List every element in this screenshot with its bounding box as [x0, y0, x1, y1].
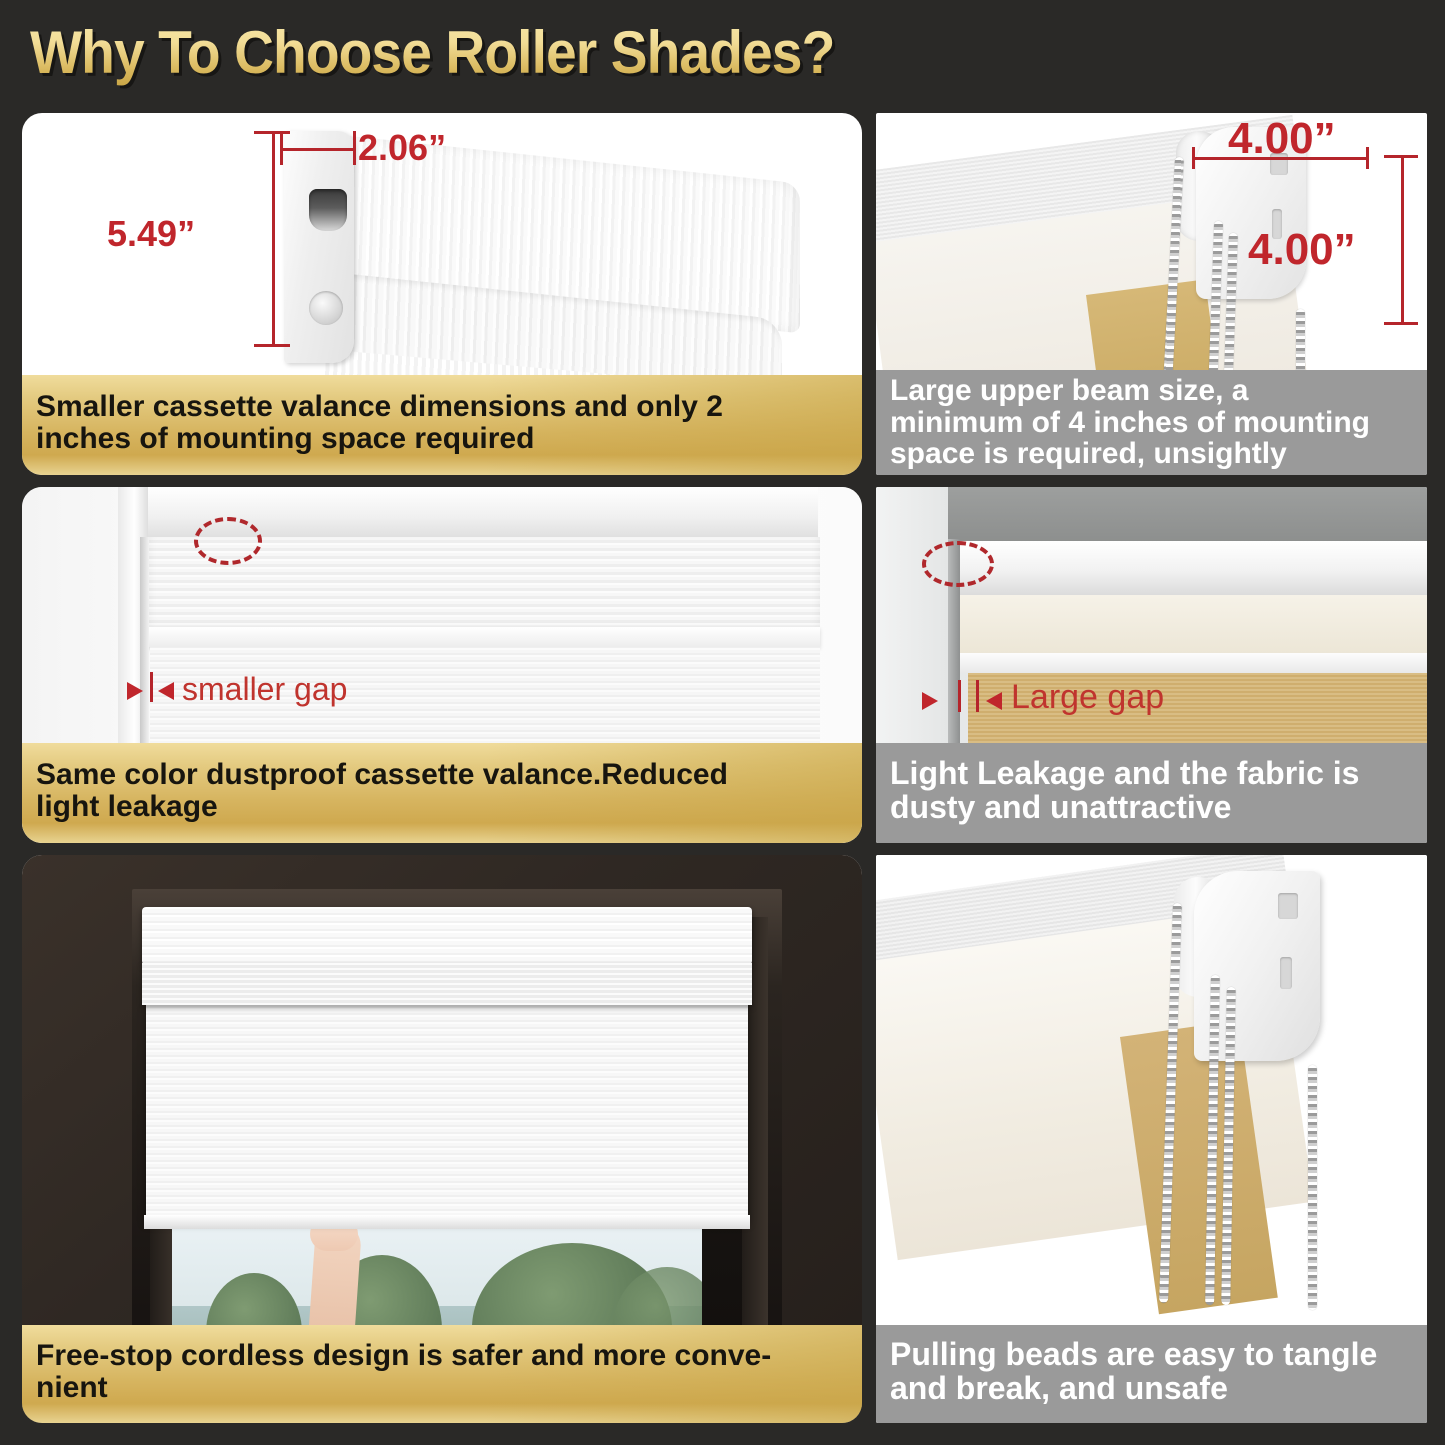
panel-3-caption: Same color dustproof cassette valance.Re…	[22, 743, 862, 843]
dim-height-tick-top	[254, 131, 290, 134]
dim-height-tick-top-2	[1384, 155, 1418, 158]
panel-4-caption-line-2: dusty and unattractive	[890, 791, 1359, 825]
panel-5-caption: Free-stop cordless design is safer and m…	[22, 1325, 862, 1423]
dim-height-tick-bottom-2	[1384, 322, 1418, 325]
panel-4-caption-line-1: Light Leakage and the fabric is	[890, 757, 1359, 791]
valance-lip	[148, 627, 820, 647]
valance-end-cap	[284, 131, 354, 363]
dimension-label-width-2: 4.00”	[1228, 114, 1336, 164]
bead-chain-4	[1308, 1065, 1317, 1310]
dimension-label-height: 5.49”	[107, 213, 195, 255]
gap-arrow-right	[158, 682, 174, 700]
window-recess-dark	[946, 487, 1427, 545]
gap-marker-line	[150, 672, 153, 702]
gap-highlight-circle-2	[922, 541, 994, 587]
panel-2-caption: Large upper beam size, a minimum of 4 in…	[876, 370, 1427, 475]
panel-2-caption-line-2: minimum of 4 inches of mounting	[890, 407, 1370, 439]
dim-width-tick-right-2	[1366, 147, 1369, 169]
panel-large-upper-beam: 4.00” 4.00” Large upper beam size, a min…	[876, 113, 1427, 475]
gap-arrow-left	[127, 682, 143, 700]
roller-shade-fabric	[146, 1005, 748, 1220]
wall-left	[876, 487, 948, 787]
panel-2-caption-line-1: Large upper beam size, a	[890, 375, 1370, 407]
dim-height-line	[272, 131, 275, 347]
panel-5-caption-line-1: Free-stop cordless design is safer and m…	[36, 1340, 771, 1372]
gap-marker-line-a	[958, 680, 961, 712]
shade-hem-bar	[144, 1215, 750, 1229]
panel-6-caption-line-1: Pulling beads are easy to tangle	[890, 1338, 1377, 1372]
cream-fabric-band	[958, 595, 1427, 655]
panel-smaller-cassette: 2.06” 5.49” Smaller cassette valance dim…	[22, 113, 862, 475]
dim-width-line	[280, 148, 356, 151]
bracket-slot-bottom	[1280, 957, 1292, 989]
panel-4-caption: Light Leakage and the fabric is dusty an…	[876, 743, 1427, 843]
panel-cordless-design: Free-stop cordless design is safer and m…	[22, 855, 862, 1423]
bracket-knob	[309, 291, 343, 325]
dimension-label-width: 2.06”	[358, 127, 446, 169]
gap-arrow-left-2	[922, 692, 938, 710]
headrail-lower-lip	[142, 963, 752, 1005]
dim-height-tick-bottom	[254, 344, 290, 347]
infographic-root: Why To Choose Roller Shades? Why To Choo…	[0, 0, 1445, 1445]
panel-3-caption-line-2: light leakage	[36, 791, 728, 823]
panel-6-caption: Pulling beads are easy to tangle and bre…	[876, 1325, 1427, 1423]
gap-callout-label-2: Large gap	[1011, 678, 1164, 717]
page-title: Why To Choose Roller Shades?	[30, 18, 834, 87]
bracket-slot-top	[1278, 893, 1298, 919]
cassette-headrail	[142, 907, 752, 965]
bracket-slot	[309, 189, 347, 231]
dim-width-tick-right	[353, 131, 356, 165]
fabric-seam	[958, 653, 1427, 673]
panel-1-caption: Smaller cassette valance dimensions and …	[22, 375, 862, 475]
gap-highlight-circle	[194, 517, 262, 565]
panel-3-caption-line-1: Same color dustproof cassette valance.Re…	[36, 759, 728, 791]
beam-valance	[954, 541, 1427, 599]
gap-marker-line-b	[976, 680, 979, 712]
dim-width-tick-left-2	[1192, 147, 1195, 169]
panel-5-caption-line-2: nient	[36, 1372, 771, 1404]
gap-arrow-right-2	[986, 692, 1002, 710]
panel-6-caption-line-2: and break, and unsafe	[890, 1372, 1377, 1406]
gap-callout-label: smaller gap	[182, 671, 347, 708]
dimension-label-height-2: 4.00”	[1248, 225, 1356, 275]
panel-1-caption-line-1: Smaller cassette valance dimensions and …	[36, 391, 723, 423]
panel-2-caption-line-3: space is required, unsightly	[890, 438, 1370, 470]
panel-dustproof-valance: smaller gap Same color dustproof cassett…	[22, 487, 862, 843]
panel-1-caption-line-2: inches of mounting space required	[36, 423, 723, 455]
dim-height-line-2	[1401, 155, 1404, 325]
panel-pulling-beads: Pulling beads are easy to tangle and bre…	[876, 855, 1427, 1423]
panel-light-leakage: Large gap Light Leakage and the fabric i…	[876, 487, 1427, 843]
